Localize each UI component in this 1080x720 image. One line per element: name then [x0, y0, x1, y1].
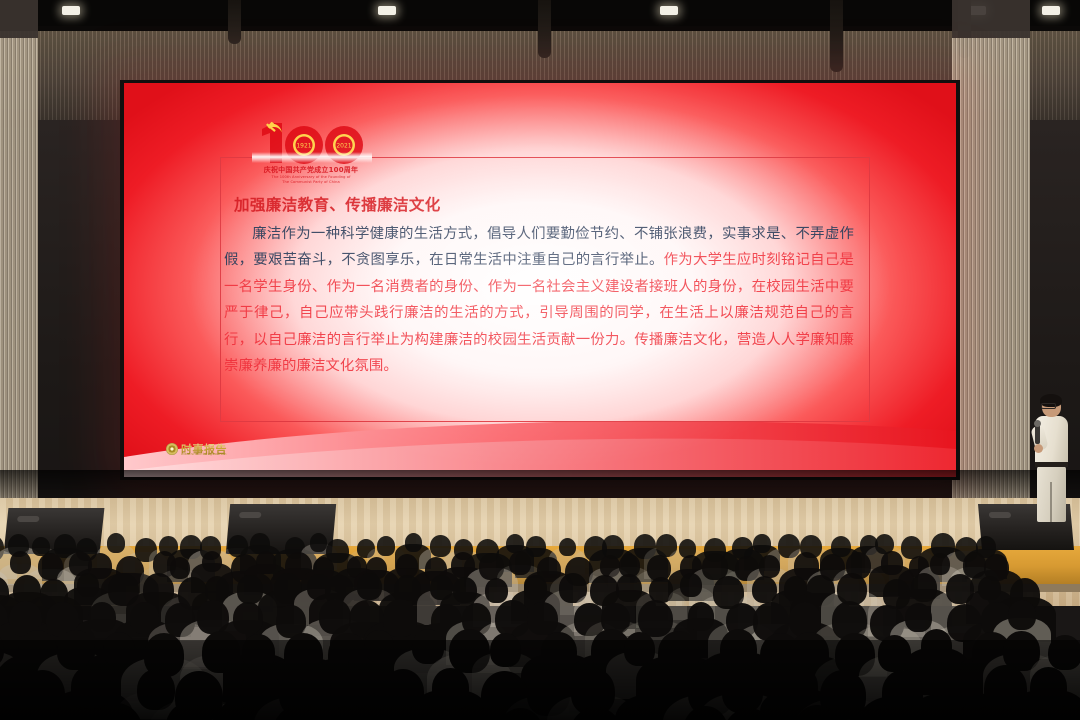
audience-member-head	[377, 536, 396, 556]
pillar-cap	[952, 0, 1030, 38]
audience-member-head	[233, 602, 263, 634]
slide-body-text: 廉洁作为一种科学健康的生活方式，倡导人们要勤俭节约、不铺张浪费，实事求是、不弄虚…	[224, 221, 854, 379]
audience-member-head	[759, 555, 780, 578]
audience-member-head	[616, 574, 642, 602]
presenter-figure	[1032, 396, 1074, 524]
audience-member-head	[524, 575, 547, 600]
ceiling-spotlight	[378, 6, 396, 15]
audience-member-head	[680, 573, 702, 597]
slide-title: 加强廉洁教育、传播廉洁文化	[234, 193, 834, 215]
audience-member-head	[527, 602, 558, 635]
foreground-shadow	[0, 640, 1080, 720]
emblem-year-left: 1921	[296, 143, 311, 150]
audience-member-head	[10, 551, 31, 574]
audience-member-head	[405, 533, 422, 552]
audience-member-head	[88, 602, 116, 633]
audience-member-head	[753, 534, 770, 553]
led-screen[interactable]: 1921 2021 庆祝中国共产党成立100周年 The 100th Anniv…	[124, 83, 956, 477]
frame-gap-mask	[252, 152, 372, 163]
audience-member-head	[485, 578, 508, 603]
microphone-icon	[1035, 424, 1040, 444]
presenter-leg-gap	[1050, 482, 1052, 522]
hanging-speaker	[538, 0, 551, 58]
audience-member-head	[310, 533, 327, 552]
audience-member-head	[1008, 600, 1036, 630]
audience-member-head	[170, 557, 191, 579]
audience-member-head	[77, 573, 99, 597]
audience-member-head	[453, 577, 477, 603]
audience-member-head	[978, 576, 1001, 601]
wall-pillar-left	[0, 0, 38, 545]
auditorium-scene: 1921 2021 庆祝中国共产党成立100周年 The 100th Anniv…	[0, 0, 1080, 720]
pillar-cap	[0, 0, 38, 38]
audience-member-head	[396, 554, 418, 578]
glasses-icon	[1041, 403, 1056, 409]
microphone-head	[1034, 420, 1041, 427]
slide-brand-logo: 时事报告 www.shishibaogao.com	[166, 441, 227, 457]
audience-member-head	[256, 551, 277, 573]
audience-member-head	[688, 602, 714, 630]
audience-member-head	[559, 538, 576, 556]
ceiling-spotlight	[1042, 6, 1060, 15]
audience-member-head	[509, 551, 531, 575]
brand-eye-icon	[166, 443, 178, 455]
wall-pillar-right	[952, 0, 1030, 545]
audience-member-head	[107, 533, 125, 553]
audience-member-head	[383, 599, 418, 637]
presenter-belt	[1035, 462, 1068, 467]
audience-member-head	[202, 551, 222, 573]
speaker-grill	[239, 512, 262, 518]
audience-member-head	[930, 553, 951, 575]
ceiling-spotlight	[62, 6, 80, 15]
audience-member-head	[526, 536, 546, 557]
hanging-speaker	[830, 0, 843, 72]
hanging-speaker	[228, 0, 241, 44]
speaker-grill	[989, 512, 1012, 518]
audience-member-head	[911, 573, 937, 602]
audience-member-head	[881, 551, 902, 574]
slide-body-red: 作为大学生应时刻铭记自己是一名学生身份、作为一名消费者的身份、作为一名社会主义建…	[224, 252, 854, 374]
ceiling-spotlight	[660, 6, 678, 15]
audience-member-head	[357, 573, 382, 600]
brand-name-en: www.shishibaogao.com	[181, 452, 227, 456]
emblem-year-right: 2021	[336, 143, 351, 150]
audience-member-head	[905, 603, 932, 632]
presenter-hand	[1034, 444, 1043, 453]
